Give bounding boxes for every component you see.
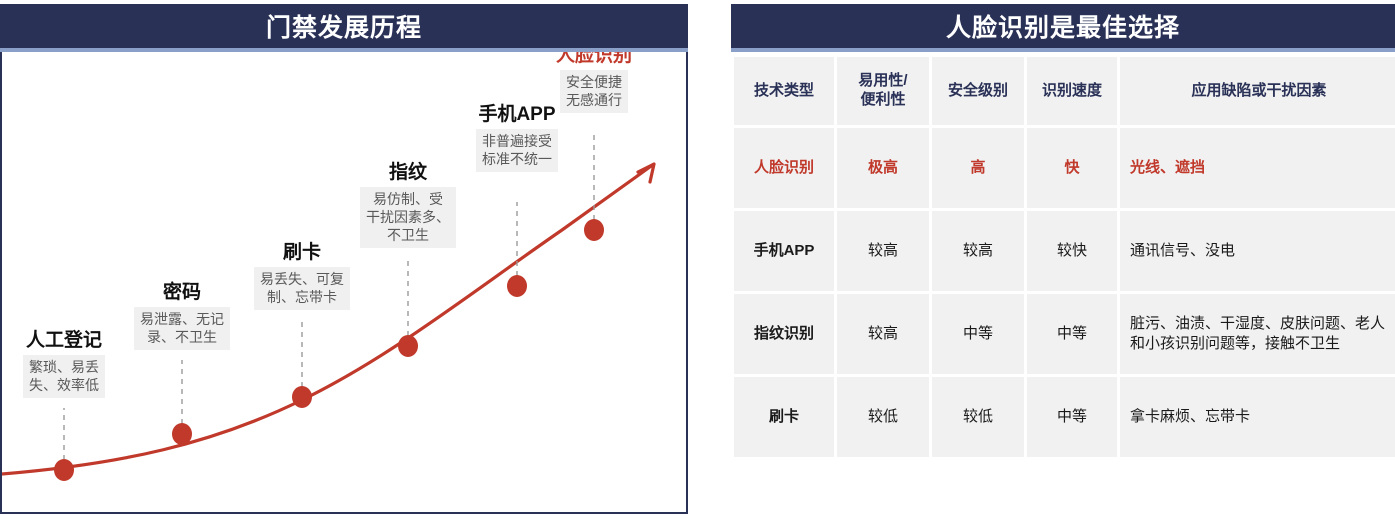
cell-speed: 较快	[1027, 211, 1117, 291]
table-header-row: 技术类型 易用性/ 便利性 安全级别 识别速度 应用缺陷或干扰因素	[734, 57, 1395, 125]
milestone-title-2: 密码	[124, 282, 240, 304]
column-header-tech: 技术类型	[734, 57, 834, 125]
cell-speed: 中等	[1027, 294, 1117, 374]
column-header-drawbacks: 应用缺陷或干扰因素	[1120, 57, 1395, 125]
milestone-desc-6: 安全便捷 无感通行	[560, 70, 628, 113]
milestone-dot-3	[292, 386, 312, 408]
cell-tech: 刷卡	[734, 377, 834, 457]
cell-security: 中等	[932, 294, 1024, 374]
table-row: 指纹识别 较高 中等 中等 脏污、油渍、干湿度、皮肤问题、老人和小孩识别问题等，…	[734, 294, 1395, 374]
milestone-label-4: 指纹 易仿制、受 干扰因素多、 不卫生	[350, 162, 466, 248]
milestone-title-3: 刷卡	[244, 242, 360, 264]
column-header-usability: 易用性/ 便利性	[837, 57, 929, 125]
timeline-canvas: 人工登记 繁琐、易丢 失、效率低 密码 易泄露、无记 录、不卫生 刷卡 易丢失、…	[0, 52, 688, 514]
cell-usability: 极高	[837, 128, 929, 208]
cell-security: 较高	[932, 211, 1024, 291]
milestone-dot-6	[584, 219, 604, 241]
cell-drawbacks: 拿卡麻烦、忘带卡	[1120, 377, 1395, 457]
milestone-title-4: 指纹	[350, 162, 466, 184]
cell-tech: 手机APP	[734, 211, 834, 291]
milestone-label-3: 刷卡 易丢失、可复 制、忘带卡	[244, 242, 360, 310]
comparison-table: 技术类型 易用性/ 便利性 安全级别 识别速度 应用缺陷或干扰因素 人脸识别 极…	[731, 54, 1395, 460]
comparison-panel: 人脸识别是最佳选择 技术类型 易用性/ 便利性 安全级别 识别速度 应用缺陷或干…	[731, 4, 1395, 514]
milestone-dot-5	[507, 275, 527, 297]
milestone-desc-2: 易泄露、无记 录、不卫生	[134, 307, 230, 350]
milestone-dot-2	[172, 423, 192, 445]
milestone-title-1: 人工登记	[6, 330, 122, 352]
cell-security: 高	[932, 128, 1024, 208]
column-header-security: 安全级别	[932, 57, 1024, 125]
column-header-speed: 识别速度	[1027, 57, 1117, 125]
milestone-label-2: 密码 易泄露、无记 录、不卫生	[124, 282, 240, 350]
cell-drawbacks: 脏污、油渍、干湿度、皮肤问题、老人和小孩识别问题等，接触不卫生	[1120, 294, 1395, 374]
milestone-dot-1	[54, 459, 74, 481]
milestone-desc-4: 易仿制、受 干扰因素多、 不卫生	[360, 187, 456, 249]
milestone-label-6: 人脸识别 安全便捷 无感通行	[536, 52, 652, 113]
cell-usability: 较高	[837, 294, 929, 374]
cell-drawbacks: 光线、遮挡	[1120, 128, 1395, 208]
milestone-desc-5: 非普遍接受 标准不统一	[476, 129, 558, 172]
table-row: 刷卡 较低 较低 中等 拿卡麻烦、忘带卡	[734, 377, 1395, 457]
timeline-title: 门禁发展历程	[0, 4, 688, 52]
timeline-panel: 门禁发展历程 人工登记 繁琐、易丢 失、效率低	[0, 4, 688, 514]
milestone-desc-3: 易丢失、可复 制、忘带卡	[254, 267, 350, 310]
cell-speed: 快	[1027, 128, 1117, 208]
table-row: 手机APP 较高 较高 较快 通讯信号、没电	[734, 211, 1395, 291]
comparison-table-title: 人脸识别是最佳选择	[731, 4, 1395, 52]
table-row: 人脸识别 极高 高 快 光线、遮挡	[734, 128, 1395, 208]
cell-drawbacks: 通讯信号、没电	[1120, 211, 1395, 291]
curve-line	[2, 164, 654, 474]
cell-tech: 指纹识别	[734, 294, 834, 374]
milestone-desc-1: 繁琐、易丢 失、效率低	[23, 355, 105, 398]
milestone-title-6: 人脸识别	[536, 52, 652, 67]
milestone-label-1: 人工登记 繁琐、易丢 失、效率低	[6, 330, 122, 398]
cell-usability: 较低	[837, 377, 929, 457]
cell-usability: 较高	[837, 211, 929, 291]
cell-tech: 人脸识别	[734, 128, 834, 208]
milestone-dot-4	[398, 335, 418, 357]
milestone-label-5: 手机APP 非普遍接受 标准不统一	[459, 104, 575, 172]
cell-security: 较低	[932, 377, 1024, 457]
cell-speed: 中等	[1027, 377, 1117, 457]
